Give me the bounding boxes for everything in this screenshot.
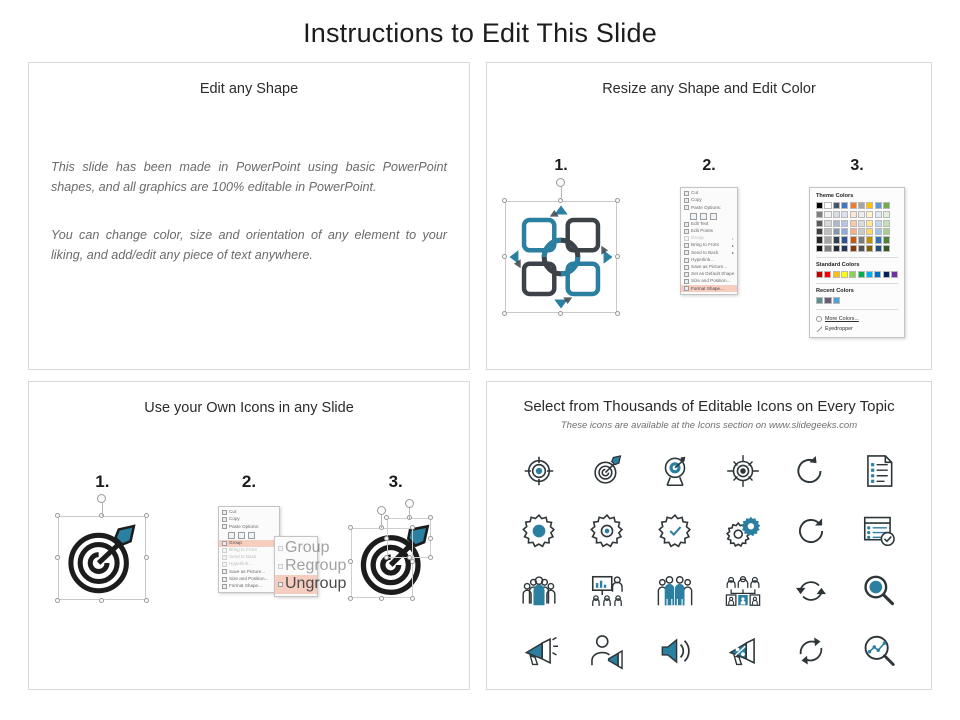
context-menu-item-set-as-default-shape[interactable]: Set as Default Shape: [681, 271, 737, 278]
context-menu-item-hyperlink[interactable]: Hyperlink...: [681, 257, 737, 264]
resize-handle-s[interactable]: [99, 598, 104, 603]
theme-tint-swatch[interactable]: [824, 245, 831, 252]
icon-library-cell[interactable]: [584, 449, 630, 493]
theme-tint-swatch[interactable]: [816, 220, 823, 227]
cut-icon: [684, 191, 689, 196]
copy-icon: [222, 517, 227, 522]
size-position-icon: [684, 279, 689, 284]
step-number: 3.: [389, 472, 403, 491]
theme-tint-swatch[interactable]: [866, 228, 873, 235]
panel-title-own-icons: Use your Own Icons in any Slide: [29, 400, 469, 416]
paste-option-buttons[interactable]: [681, 212, 737, 221]
standard-colors-row[interactable]: [816, 271, 898, 278]
theme-tint-swatch[interactable]: [841, 245, 848, 252]
rotation-handle[interactable]: [405, 499, 414, 508]
standard-color-swatch[interactable]: [866, 271, 873, 278]
figure-color-picker: Theme Colors Standard Colors Recent Colo…: [783, 187, 931, 338]
group-submenu[interactable]: GroupRegroupUngroup: [274, 536, 318, 597]
recent-colors-row[interactable]: [816, 297, 898, 304]
step-number: 1.: [554, 157, 567, 174]
theme-colors-base-row[interactable]: [816, 202, 898, 209]
icon-library-cell[interactable]: [788, 509, 834, 553]
group-icon: [278, 546, 283, 551]
theme-color-swatch[interactable]: [841, 202, 848, 209]
magnifier-icon[interactable]: [860, 572, 898, 610]
theme-tint-swatch[interactable]: [816, 245, 823, 252]
recent-color-swatch[interactable]: [833, 297, 840, 304]
panel-title-resize-shape: Resize any Shape and Edit Color: [487, 81, 931, 97]
rotation-handle[interactable]: [377, 506, 386, 515]
theme-colors-label: Theme Colors: [816, 193, 898, 199]
people-group-icon[interactable]: [520, 572, 558, 610]
context-menu-item-edit-points[interactable]: Edit Points: [681, 228, 737, 235]
chevron-right-icon: ▸: [732, 251, 734, 255]
body-paragraph-1: This slide has been made in PowerPoint u…: [51, 157, 447, 198]
icon-library-cell[interactable]: [720, 509, 766, 553]
resize-handle[interactable]: [348, 525, 353, 530]
resize-handle[interactable]: [428, 515, 433, 520]
context-menu-item-label: Hyperlink...: [229, 562, 252, 567]
theme-color-swatch[interactable]: [883, 202, 890, 209]
step-2-column: 2.: [635, 157, 783, 175]
context-menu-item-save-as-picture[interactable]: Save as Picture...: [681, 264, 737, 271]
theme-tint-swatch[interactable]: [850, 236, 857, 243]
icon-library-cell[interactable]: [516, 629, 562, 673]
theme-tint-row: [816, 236, 898, 243]
theme-tint-swatch[interactable]: [850, 228, 857, 235]
resize-handle[interactable]: [407, 555, 412, 560]
ungroup-icon: [278, 582, 283, 587]
resize-handle[interactable]: [410, 596, 415, 601]
theme-tint-swatch[interactable]: [858, 211, 865, 218]
standard-color-swatch[interactable]: [874, 271, 881, 278]
theme-color-swatch[interactable]: [824, 202, 831, 209]
theme-tint-swatch[interactable]: [866, 245, 873, 252]
hyperlink-icon: [684, 258, 689, 263]
context-menu-item-cut[interactable]: Cut: [681, 190, 737, 197]
theme-tint-row: [816, 245, 898, 252]
context-menu-wrapper: CutCopyPaste Options:Group▸Bring to Fron…: [218, 506, 280, 593]
resize-handle[interactable]: [379, 596, 384, 601]
icon-library-cell[interactable]: [856, 569, 902, 613]
icon-library-cell[interactable]: [720, 569, 766, 613]
person-megaphone-icon[interactable]: [588, 632, 626, 670]
recent-color-swatch[interactable]: [824, 297, 831, 304]
resize-handle[interactable]: [410, 525, 415, 530]
magnifier-chart-icon[interactable]: [860, 632, 898, 670]
icon-library-cell[interactable]: [856, 629, 902, 673]
dartboard-arrow-icon[interactable]: [588, 452, 626, 490]
copy-icon: [684, 198, 689, 203]
resize-handle-e[interactable]: [144, 555, 149, 560]
icon-library-cell[interactable]: [584, 629, 630, 673]
theme-tint-swatch[interactable]: [858, 220, 865, 227]
selection-frame[interactable]: [505, 201, 617, 313]
paste-icon: [684, 205, 689, 210]
theme-tint-swatch[interactable]: [833, 228, 840, 235]
theme-tint-swatch[interactable]: [883, 220, 890, 227]
circular-arrow-icon[interactable]: [792, 512, 830, 550]
theme-colors-tint-grid[interactable]: [816, 211, 898, 252]
theme-tint-swatch[interactable]: [833, 236, 840, 243]
icon-library-cell[interactable]: [788, 449, 834, 493]
standard-color-swatch[interactable]: [824, 271, 831, 278]
standard-color-swatch[interactable]: [891, 271, 898, 278]
standard-color-swatch[interactable]: [883, 271, 890, 278]
sub-selection-box: [387, 518, 431, 558]
context-menu-item-label: Save as Picture...: [229, 570, 265, 575]
paste-picture-icon[interactable]: [700, 213, 707, 220]
context-menu-item-label: Bring to Front: [229, 548, 257, 553]
resize-handle-sw[interactable]: [55, 598, 60, 603]
gear-check-icon[interactable]: [656, 512, 694, 550]
theme-color-swatch[interactable]: [866, 202, 873, 209]
resize-handle[interactable]: [348, 596, 353, 601]
standard-color-swatch[interactable]: [858, 271, 865, 278]
icon-library-cell[interactable]: [788, 629, 834, 673]
context-menu-item-size-and-position[interactable]: Size and Position...: [219, 576, 279, 583]
step-number-row-resize: 1. 2. 3.: [487, 157, 931, 175]
context-menu-item-label: Send to Back: [691, 251, 718, 256]
resize-handle-e[interactable]: [615, 254, 620, 259]
context-menu-item-label: Group: [229, 541, 242, 546]
theme-tint-row: [816, 228, 898, 235]
context-menu-item-label: Cut: [691, 191, 698, 196]
sync-arrows-icon[interactable]: [792, 572, 830, 610]
context-menu-item-label: Edit Text: [691, 222, 709, 227]
icon-library-cell[interactable]: [584, 509, 630, 553]
theme-tint-swatch[interactable]: [875, 228, 882, 235]
theme-tint-row: [816, 211, 898, 218]
context-menu-item-ungroup[interactable]: Ungroup: [275, 575, 317, 593]
icon-library-cell[interactable]: [788, 569, 834, 613]
context-menu-item-bring-to-front[interactable]: Bring to Front▸: [219, 547, 279, 554]
crosshair-target-icon[interactable]: [520, 452, 558, 490]
team-standing-icon[interactable]: [656, 572, 694, 610]
icon-library-cell[interactable]: [652, 449, 698, 493]
rotation-stem: [561, 187, 562, 200]
figure-selected-shape: [487, 187, 635, 313]
theme-tint-swatch[interactable]: [833, 220, 840, 227]
rotation-handle[interactable]: [556, 178, 565, 187]
regroup-icon: [278, 564, 283, 569]
icon-library-cell[interactable]: [516, 569, 562, 613]
theme-tint-swatch[interactable]: [875, 211, 882, 218]
theme-tint-swatch[interactable]: [841, 220, 848, 227]
theme-tint-swatch[interactable]: [858, 228, 865, 235]
divider: [816, 257, 898, 258]
step-number: 1.: [95, 472, 109, 491]
theme-tint-swatch[interactable]: [841, 228, 848, 235]
resize-handle[interactable]: [428, 555, 433, 560]
powerpoint-context-menu[interactable]: CutCopyPaste Options:Group▸Bring to Fron…: [218, 506, 280, 593]
refresh-arrow-icon[interactable]: [792, 452, 830, 490]
theme-color-swatch[interactable]: [833, 202, 840, 209]
more-colors-item[interactable]: More Colors...: [816, 314, 898, 324]
step-3-column: 3.: [783, 157, 931, 175]
panel-title-edit-shape: Edit any Shape: [29, 81, 469, 97]
page-title: Instructions to Edit This Slide: [0, 18, 960, 49]
theme-tint-swatch[interactable]: [883, 245, 890, 252]
crosshair-scope-icon[interactable]: [724, 452, 762, 490]
context-menu-item-label: Bring to Front: [691, 243, 719, 248]
resize-handle-s[interactable]: [558, 311, 563, 316]
step-1-column: 1.: [487, 157, 635, 175]
paste-text-icon[interactable]: [710, 213, 717, 220]
icon-library-cell[interactable]: [652, 569, 698, 613]
context-menu-item-label: Copy: [691, 198, 702, 203]
theme-tint-swatch[interactable]: [841, 211, 848, 218]
megaphone-icon[interactable]: [520, 632, 558, 670]
resize-handle-se[interactable]: [615, 311, 620, 316]
standard-color-swatch[interactable]: [841, 271, 848, 278]
theme-tint-swatch[interactable]: [883, 228, 890, 235]
theme-tint-swatch[interactable]: [883, 211, 890, 218]
panel-edit-any-shape: Edit any Shape This slide has been made …: [28, 62, 470, 370]
recent-color-swatch[interactable]: [816, 297, 823, 304]
context-menu-item-cut[interactable]: Cut: [219, 509, 279, 516]
theme-tint-swatch[interactable]: [883, 236, 890, 243]
edit-points-icon: [684, 229, 689, 234]
selection-box: [58, 516, 146, 600]
format-shape-icon: [222, 584, 227, 589]
edit-text-icon: [684, 222, 689, 227]
figure-group-menu: CutCopyPaste Options:Group▸Bring to Fron…: [176, 506, 323, 593]
eyedropper-icon: [816, 326, 822, 332]
theme-tint-swatch[interactable]: [850, 245, 857, 252]
chevron-right-icon: ▸: [732, 244, 734, 248]
context-menu-item-label: Edit Points: [691, 229, 713, 234]
resize-handle-se[interactable]: [144, 598, 149, 603]
resize-handle-sw[interactable]: [502, 311, 507, 316]
eyedropper-label: Eyedropper: [825, 326, 853, 332]
context-menu-item-label: Set as Default Shape: [691, 272, 734, 277]
more-colors-label: More Colors...: [825, 316, 859, 322]
panel-use-own-icons: Use your Own Icons in any Slide 1. 2. 3.: [28, 381, 470, 690]
context-menu-item-label: Copy: [229, 517, 240, 522]
context-menu-item-edit-text[interactable]: Edit Text: [681, 221, 737, 228]
context-menu-item-label: Format Shape...: [229, 584, 262, 589]
context-menu-item-format-shape[interactable]: Format Shape...: [681, 285, 737, 292]
icon-library-cell[interactable]: [516, 509, 562, 553]
powerpoint-context-menu[interactable]: CutCopyPaste Options:Edit TextEdit Point…: [680, 187, 738, 295]
panel-resize-shape-edit-color: Resize any Shape and Edit Color 1. 2. 3.: [486, 62, 932, 370]
loudspeaker-icon[interactable]: [656, 632, 694, 670]
recent-colors-label: Recent Colors: [816, 288, 898, 294]
theme-color-swatch[interactable]: [816, 202, 823, 209]
icon-library-cell[interactable]: [856, 509, 902, 553]
context-menu-item-paste-options[interactable]: Paste Options:: [219, 523, 279, 530]
slide-canvas: Instructions to Edit This Slide Edit any…: [0, 0, 960, 720]
theme-tint-swatch[interactable]: [824, 220, 831, 227]
context-menu-item-label: Group: [691, 236, 704, 241]
theme-tint-swatch[interactable]: [816, 228, 823, 235]
theme-tint-swatch[interactable]: [850, 211, 857, 218]
paste-picture-icon[interactable]: [238, 532, 245, 539]
icon-library-cell[interactable]: [856, 449, 902, 493]
icon-library-cell[interactable]: [720, 629, 766, 673]
context-menu-item-label: Hyperlink...: [691, 258, 714, 263]
multi-selection-frame[interactable]: [349, 514, 443, 602]
context-menu-item-hyperlink[interactable]: Hyperlink...: [219, 561, 279, 568]
theme-color-swatch[interactable]: [850, 202, 857, 209]
selection-box: [505, 201, 617, 313]
resize-handle-w[interactable]: [502, 254, 507, 259]
theme-color-swatch[interactable]: [858, 202, 865, 209]
send-back-icon: [684, 250, 689, 255]
hyperlink-icon: [222, 562, 227, 567]
theme-tint-swatch[interactable]: [816, 236, 823, 243]
step-number: 2.: [702, 157, 715, 174]
theme-tint-swatch[interactable]: [875, 236, 882, 243]
standard-color-swatch[interactable]: [833, 271, 840, 278]
group-icon: [684, 236, 689, 241]
resize-handle[interactable]: [384, 515, 389, 520]
save-picture-icon: [222, 569, 227, 574]
step-2-column: 2.: [176, 472, 323, 492]
default-shape-icon: [684, 272, 689, 277]
selection-frame[interactable]: [58, 516, 146, 600]
save-picture-icon: [684, 265, 689, 270]
context-menu-item-label: Size and Position...: [229, 577, 268, 582]
divider: [816, 309, 898, 310]
theme-tint-swatch[interactable]: [866, 220, 873, 227]
presentation-training-icon[interactable]: [588, 572, 626, 610]
context-menu-item-label: Size and Position...: [691, 279, 730, 284]
icon-library-cell[interactable]: [652, 629, 698, 673]
bring-front-icon: [684, 243, 689, 248]
context-menu-item-format-shape[interactable]: Format Shape...: [219, 583, 279, 590]
theme-color-swatch[interactable]: [875, 202, 882, 209]
icon-library-grid: [487, 449, 931, 673]
context-menu-item-group[interactable]: Group▸: [681, 235, 737, 242]
target-on-stand-icon[interactable]: [656, 452, 694, 490]
context-menu-item-label: Send to Back: [229, 555, 256, 560]
figure-context-menu: CutCopyPaste Options:Edit TextEdit Point…: [635, 187, 783, 295]
resize-handle[interactable]: [428, 536, 433, 541]
resize-handle[interactable]: [384, 555, 389, 560]
theme-tint-swatch[interactable]: [858, 236, 865, 243]
resize-handle[interactable]: [384, 536, 389, 541]
checklist-document-icon[interactable]: [860, 452, 898, 490]
gear-outline-icon[interactable]: [588, 512, 626, 550]
theme-tint-swatch[interactable]: [866, 236, 873, 243]
document-check-icon[interactable]: [860, 512, 898, 550]
context-menu-item-label: Format Shape...: [691, 287, 724, 292]
theme-tint-swatch[interactable]: [850, 220, 857, 227]
theme-tint-swatch[interactable]: [833, 245, 840, 252]
theme-tint-swatch[interactable]: [824, 211, 831, 218]
standard-color-swatch[interactable]: [816, 271, 823, 278]
context-menu-item-group[interactable]: Group▸: [219, 540, 279, 547]
context-menu-item-send-to-back[interactable]: Send to Back▸: [681, 249, 737, 256]
paste-option-buttons[interactable]: [219, 531, 279, 540]
icon-library-cell[interactable]: [516, 449, 562, 493]
rotate-arrows-icon[interactable]: [792, 632, 830, 670]
theme-tint-swatch[interactable]: [816, 211, 823, 218]
theme-tint-swatch[interactable]: [858, 245, 865, 252]
panel-icon-library: Select from Thousands of Editable Icons …: [486, 381, 932, 690]
cut-icon: [222, 510, 227, 515]
context-menu-item-label: Paste Options:: [691, 206, 721, 211]
context-menu-item-regroup[interactable]: Regroup: [275, 557, 317, 575]
theme-tint-swatch[interactable]: [875, 220, 882, 227]
paste-icon: [222, 524, 227, 529]
context-menu-item-paste-options[interactable]: Paste Options:: [681, 204, 737, 211]
body-paragraph-2: You can change color, size and orientati…: [51, 225, 447, 266]
gear-filled-icon[interactable]: [520, 512, 558, 550]
group-icon: [222, 541, 227, 546]
step-number: 3.: [850, 157, 863, 174]
resize-handle[interactable]: [348, 559, 353, 564]
theme-tint-swatch[interactable]: [866, 211, 873, 218]
context-menu-item-label: Cut: [229, 510, 236, 515]
step-3-column: 3.: [322, 472, 469, 492]
standard-color-swatch[interactable]: [849, 271, 856, 278]
paste-keep-formatting-icon[interactable]: [690, 213, 697, 220]
resize-handle-ne[interactable]: [615, 198, 620, 203]
size-position-icon: [222, 577, 227, 582]
figure-selected-target: [29, 506, 176, 600]
megaphone-percent-icon[interactable]: [724, 632, 762, 670]
step-number: 2.: [242, 472, 256, 491]
context-menu-item-copy[interactable]: Copy: [681, 197, 737, 204]
context-menu-item-label: Paste Options:: [229, 525, 259, 530]
bring-front-icon: [222, 548, 227, 553]
context-menu-item-send-to-back[interactable]: Send to Back▸: [219, 554, 279, 561]
org-chart-team-icon[interactable]: [724, 572, 762, 610]
panel-subtitle-icon-library: These icons are available at the Icons s…: [487, 420, 931, 431]
rotation-handle[interactable]: [97, 494, 106, 503]
context-menu-item-label: Save as Picture...: [691, 265, 727, 270]
rotation-stem: [102, 503, 103, 516]
context-menu-item-label: Ungroup: [285, 576, 346, 592]
icon-library-cell[interactable]: [584, 569, 630, 613]
panel-title-icon-library: Select from Thousands of Editable Icons …: [487, 398, 931, 415]
palette-icon: [816, 316, 822, 322]
context-menu-item-label: Regroup: [285, 558, 346, 574]
divider: [816, 283, 898, 284]
format-shape-icon: [684, 286, 689, 291]
context-menu-item-size-and-position[interactable]: Size and Position...: [681, 278, 737, 285]
context-menu-item-label: Group: [285, 540, 329, 556]
theme-tint-swatch[interactable]: [824, 236, 831, 243]
step-number-row-icons: 1. 2. 3.: [29, 472, 469, 492]
color-picker-panel[interactable]: Theme Colors Standard Colors Recent Colo…: [809, 187, 905, 338]
theme-tint-swatch[interactable]: [875, 245, 882, 252]
theme-tint-swatch[interactable]: [841, 236, 848, 243]
icon-library-cell[interactable]: [652, 509, 698, 553]
resize-handle-nw[interactable]: [502, 198, 507, 203]
context-menu-item-copy[interactable]: Copy: [219, 516, 279, 523]
resize-handle-ne[interactable]: [144, 513, 149, 518]
theme-tint-swatch[interactable]: [824, 228, 831, 235]
paste-keep-formatting-icon[interactable]: [228, 532, 235, 539]
standard-colors-label: Standard Colors: [816, 262, 898, 268]
theme-tint-row: [816, 220, 898, 227]
icon-library-cell[interactable]: [720, 449, 766, 493]
theme-tint-swatch[interactable]: [833, 211, 840, 218]
double-gear-icon[interactable]: [724, 512, 762, 550]
chevron-right-icon: ▸: [732, 237, 734, 241]
context-menu-item-group[interactable]: Group: [275, 539, 317, 557]
eyedropper-item[interactable]: Eyedropper: [816, 324, 898, 334]
step-1-column: 1.: [29, 472, 176, 492]
context-menu-item-bring-to-front[interactable]: Bring to Front▸: [681, 242, 737, 249]
context-menu-item-save-as-picture[interactable]: Save as Picture...: [219, 568, 279, 575]
rotation-stem: [381, 515, 382, 528]
paste-text-icon[interactable]: [248, 532, 255, 539]
